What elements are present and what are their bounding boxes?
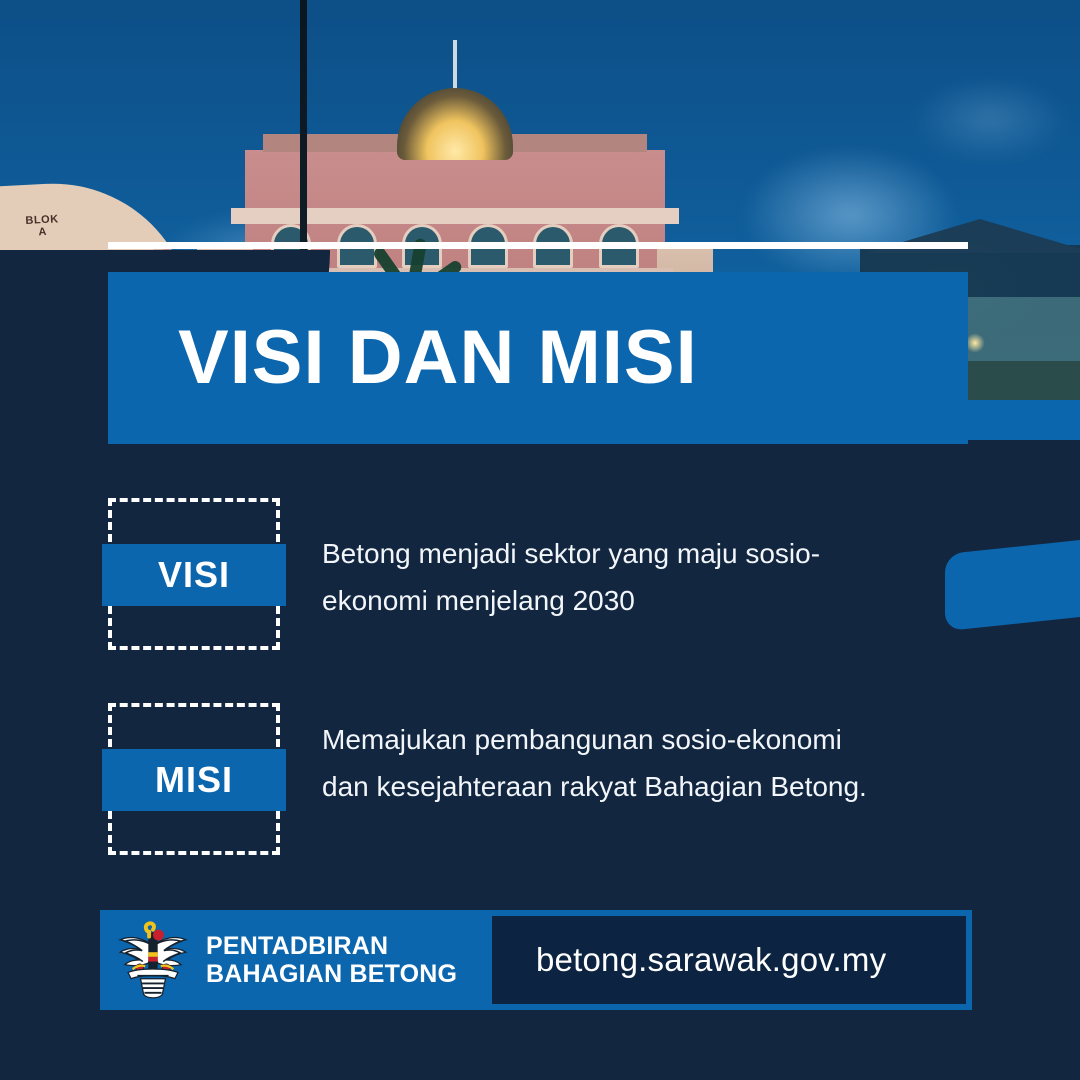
page-title: VISI DAN MISI	[178, 320, 698, 396]
building-cornice-upper	[231, 208, 679, 224]
blok-a-label: BLOK A	[25, 213, 59, 239]
footer-brand-line2: BAHAGIAN BETONG	[206, 960, 457, 988]
misi-badge-wrap: MISI	[108, 703, 280, 855]
visi-badge-label: VISI	[102, 544, 286, 606]
title-banner: VISI DAN MISI	[108, 272, 968, 444]
footer-website-url[interactable]: betong.sarawak.gov.my	[492, 916, 966, 1004]
accent-shape-top-right	[955, 400, 1080, 445]
footer-bar: PENTADBIRAN BAHAGIAN BETONG betong.saraw…	[100, 910, 972, 1010]
visi-badge-wrap: VISI	[108, 498, 280, 650]
sarawak-coat-of-arms-icon	[114, 919, 192, 1001]
dome-spire	[453, 40, 457, 92]
poster-canvas: KOMPLEKS PEJABAT KERAJAAN BLOK A VISI DA…	[0, 0, 1080, 1080]
footer-brand: PENTADBIRAN BAHAGIAN BETONG	[106, 916, 492, 1004]
title-rule	[108, 242, 968, 249]
footer-brand-line1: PENTADBIRAN	[206, 932, 457, 960]
blok-a-label-line1: BLOK	[25, 213, 59, 227]
accent-shape-bottom-right	[945, 540, 1080, 631]
blok-a-label-line2: A	[26, 225, 60, 239]
footer-brand-text: PENTADBIRAN BAHAGIAN BETONG	[206, 932, 457, 988]
golden-dome	[397, 88, 513, 160]
section-visi: VISI Betong menjadi sektor yang maju sos…	[108, 498, 882, 650]
section-misi: MISI Memajukan pembangunan sosio-ekonomi…	[108, 703, 882, 855]
misi-badge-label: MISI	[102, 749, 286, 811]
misi-body-text: Memajukan pembangunan sosio-ekonomi dan …	[322, 703, 882, 810]
visi-body-text: Betong menjadi sektor yang maju sosio-ek…	[322, 498, 882, 624]
